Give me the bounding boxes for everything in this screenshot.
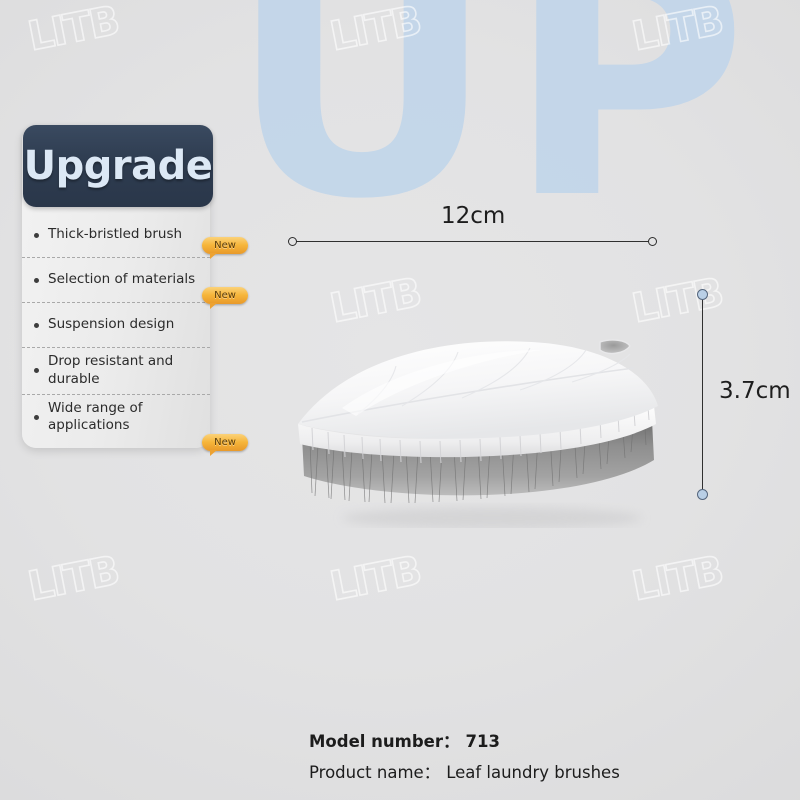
bullet-icon <box>34 415 39 420</box>
litb-watermark: LITB <box>326 270 423 332</box>
product-name-label: Product name： <box>309 759 440 783</box>
upgrade-card: Upgrade Thick-bristled brush Selection o… <box>22 126 210 448</box>
width-dimension-label: 12cm <box>441 203 505 229</box>
litb-watermark: LITB <box>326 548 423 610</box>
product-infographic: UP LITB LITB LITB LITB LITB LITB LITB LI… <box>0 0 800 800</box>
litb-watermark: LITB <box>24 0 121 60</box>
bullet-icon <box>34 368 39 373</box>
height-marker-bottom <box>697 489 708 500</box>
litb-watermark: LITB <box>628 548 725 610</box>
feature-label: Selection of materials <box>48 271 195 289</box>
upgrade-title: Upgrade <box>24 143 213 189</box>
list-item: Suspension design <box>22 302 210 347</box>
feature-label: Wide range of applications <box>48 400 202 436</box>
feature-list: Thick-bristled brush Selection of materi… <box>22 207 210 440</box>
height-dimension-line <box>702 296 703 494</box>
bullet-icon <box>34 233 39 238</box>
feature-label: Thick-bristled brush <box>48 226 182 244</box>
width-marker-left <box>288 237 297 246</box>
product-image-leaf-brush <box>282 328 682 528</box>
spec-row-model: Model number： 713 <box>309 728 620 752</box>
product-specs: Model number： 713 Product name： Leaf lau… <box>309 728 620 790</box>
feature-label: Drop resistant and durable <box>48 353 202 389</box>
height-dimension-label: 3.7cm <box>719 378 791 404</box>
hanging-hole <box>600 340 630 354</box>
list-item: Thick-bristled brush <box>22 213 210 257</box>
new-badge: New <box>202 237 248 254</box>
width-marker-right <box>648 237 657 246</box>
feature-label: Suspension design <box>48 316 174 334</box>
model-number-label: Model number： <box>309 728 459 752</box>
model-number-value: 713 <box>465 732 499 751</box>
litb-watermark: LITB <box>628 270 725 332</box>
height-marker-top <box>697 289 708 300</box>
list-item: Wide range of applications <box>22 394 210 441</box>
new-badge: New <box>202 287 248 304</box>
list-item: Drop resistant and durable <box>22 347 210 394</box>
brush-leaf-body <box>298 341 658 439</box>
bullet-icon <box>34 323 39 328</box>
new-badge: New <box>202 434 248 451</box>
upgrade-card-header: Upgrade <box>23 125 213 207</box>
width-dimension-line <box>296 241 650 242</box>
spec-row-name: Product name： Leaf laundry brushes <box>309 759 620 783</box>
product-name-value: Leaf laundry brushes <box>446 763 620 782</box>
litb-watermark: LITB <box>24 548 121 610</box>
list-item: Selection of materials <box>22 257 210 302</box>
bullet-icon <box>34 278 39 283</box>
